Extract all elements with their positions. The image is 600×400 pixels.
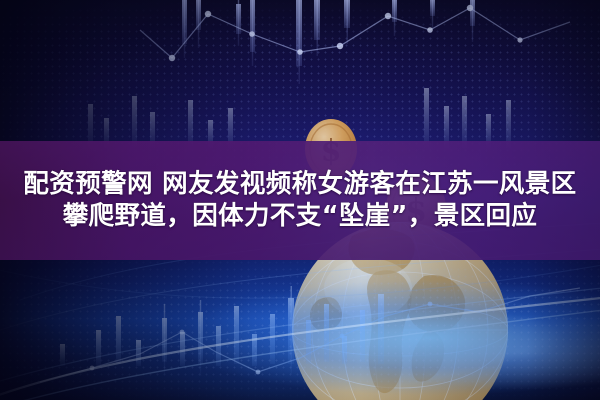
headline-line-1: 配资预警网 网友发视频称女游客在江苏一风景区 — [23, 171, 576, 199]
news-banner: $ $ — [0, 0, 600, 400]
headline: 配资预警网 网友发视频称女游客在江苏一风景区 攀爬野道，因体力不支“坠崖”，景区… — [0, 141, 600, 260]
headline-line-2: 攀爬野道，因体力不支“坠崖”，景区回应 — [63, 203, 538, 231]
